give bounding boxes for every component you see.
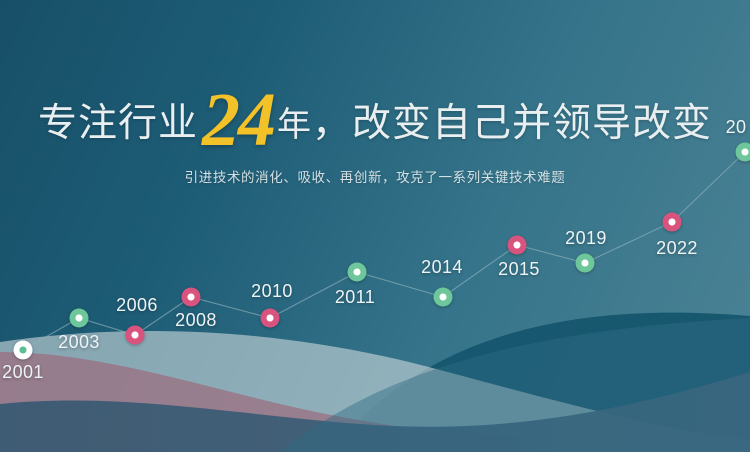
timeline-node-2010[interactable] [261,309,280,328]
timeline-node-2001[interactable] [14,341,33,360]
timeline-year-label-2008: 2008 [175,310,217,331]
timeline-year-label-2006: 2006 [116,295,158,316]
timeline-node-2008[interactable] [182,288,201,307]
timeline-node-2003[interactable] [70,309,89,328]
timeline-node-2015[interactable] [508,236,527,255]
timeline-year-label-2015: 2015 [498,259,540,280]
timeline-node-2019[interactable] [576,254,595,273]
timeline-year-label-2011: 2011 [335,287,375,308]
timeline-year-label-2014: 2014 [421,257,463,278]
milestone-timeline: 2001200320062008201020112014201520192022… [0,0,750,452]
timeline-year-label-2019: 2019 [565,228,607,249]
timeline-year-label-20: 20 [726,117,747,138]
timeline-year-label-2001: 2001 [2,362,44,383]
timeline-connector-lines [0,0,750,452]
timeline-node-20[interactable] [736,143,750,162]
timeline-year-label-2022: 2022 [656,238,698,259]
timeline-path [23,152,745,350]
timeline-year-label-2010: 2010 [251,281,293,302]
timeline-node-2014[interactable] [434,288,453,307]
timeline-node-2011[interactable] [348,263,367,282]
timeline-node-2006[interactable] [126,326,145,345]
timeline-node-2022[interactable] [663,213,682,232]
slide-canvas: 专注行业24年，改变自己并领导改变 引进技术的消化、吸收、再创新，攻克了一系列关… [0,0,750,452]
timeline-year-label-2003: 2003 [58,332,100,353]
